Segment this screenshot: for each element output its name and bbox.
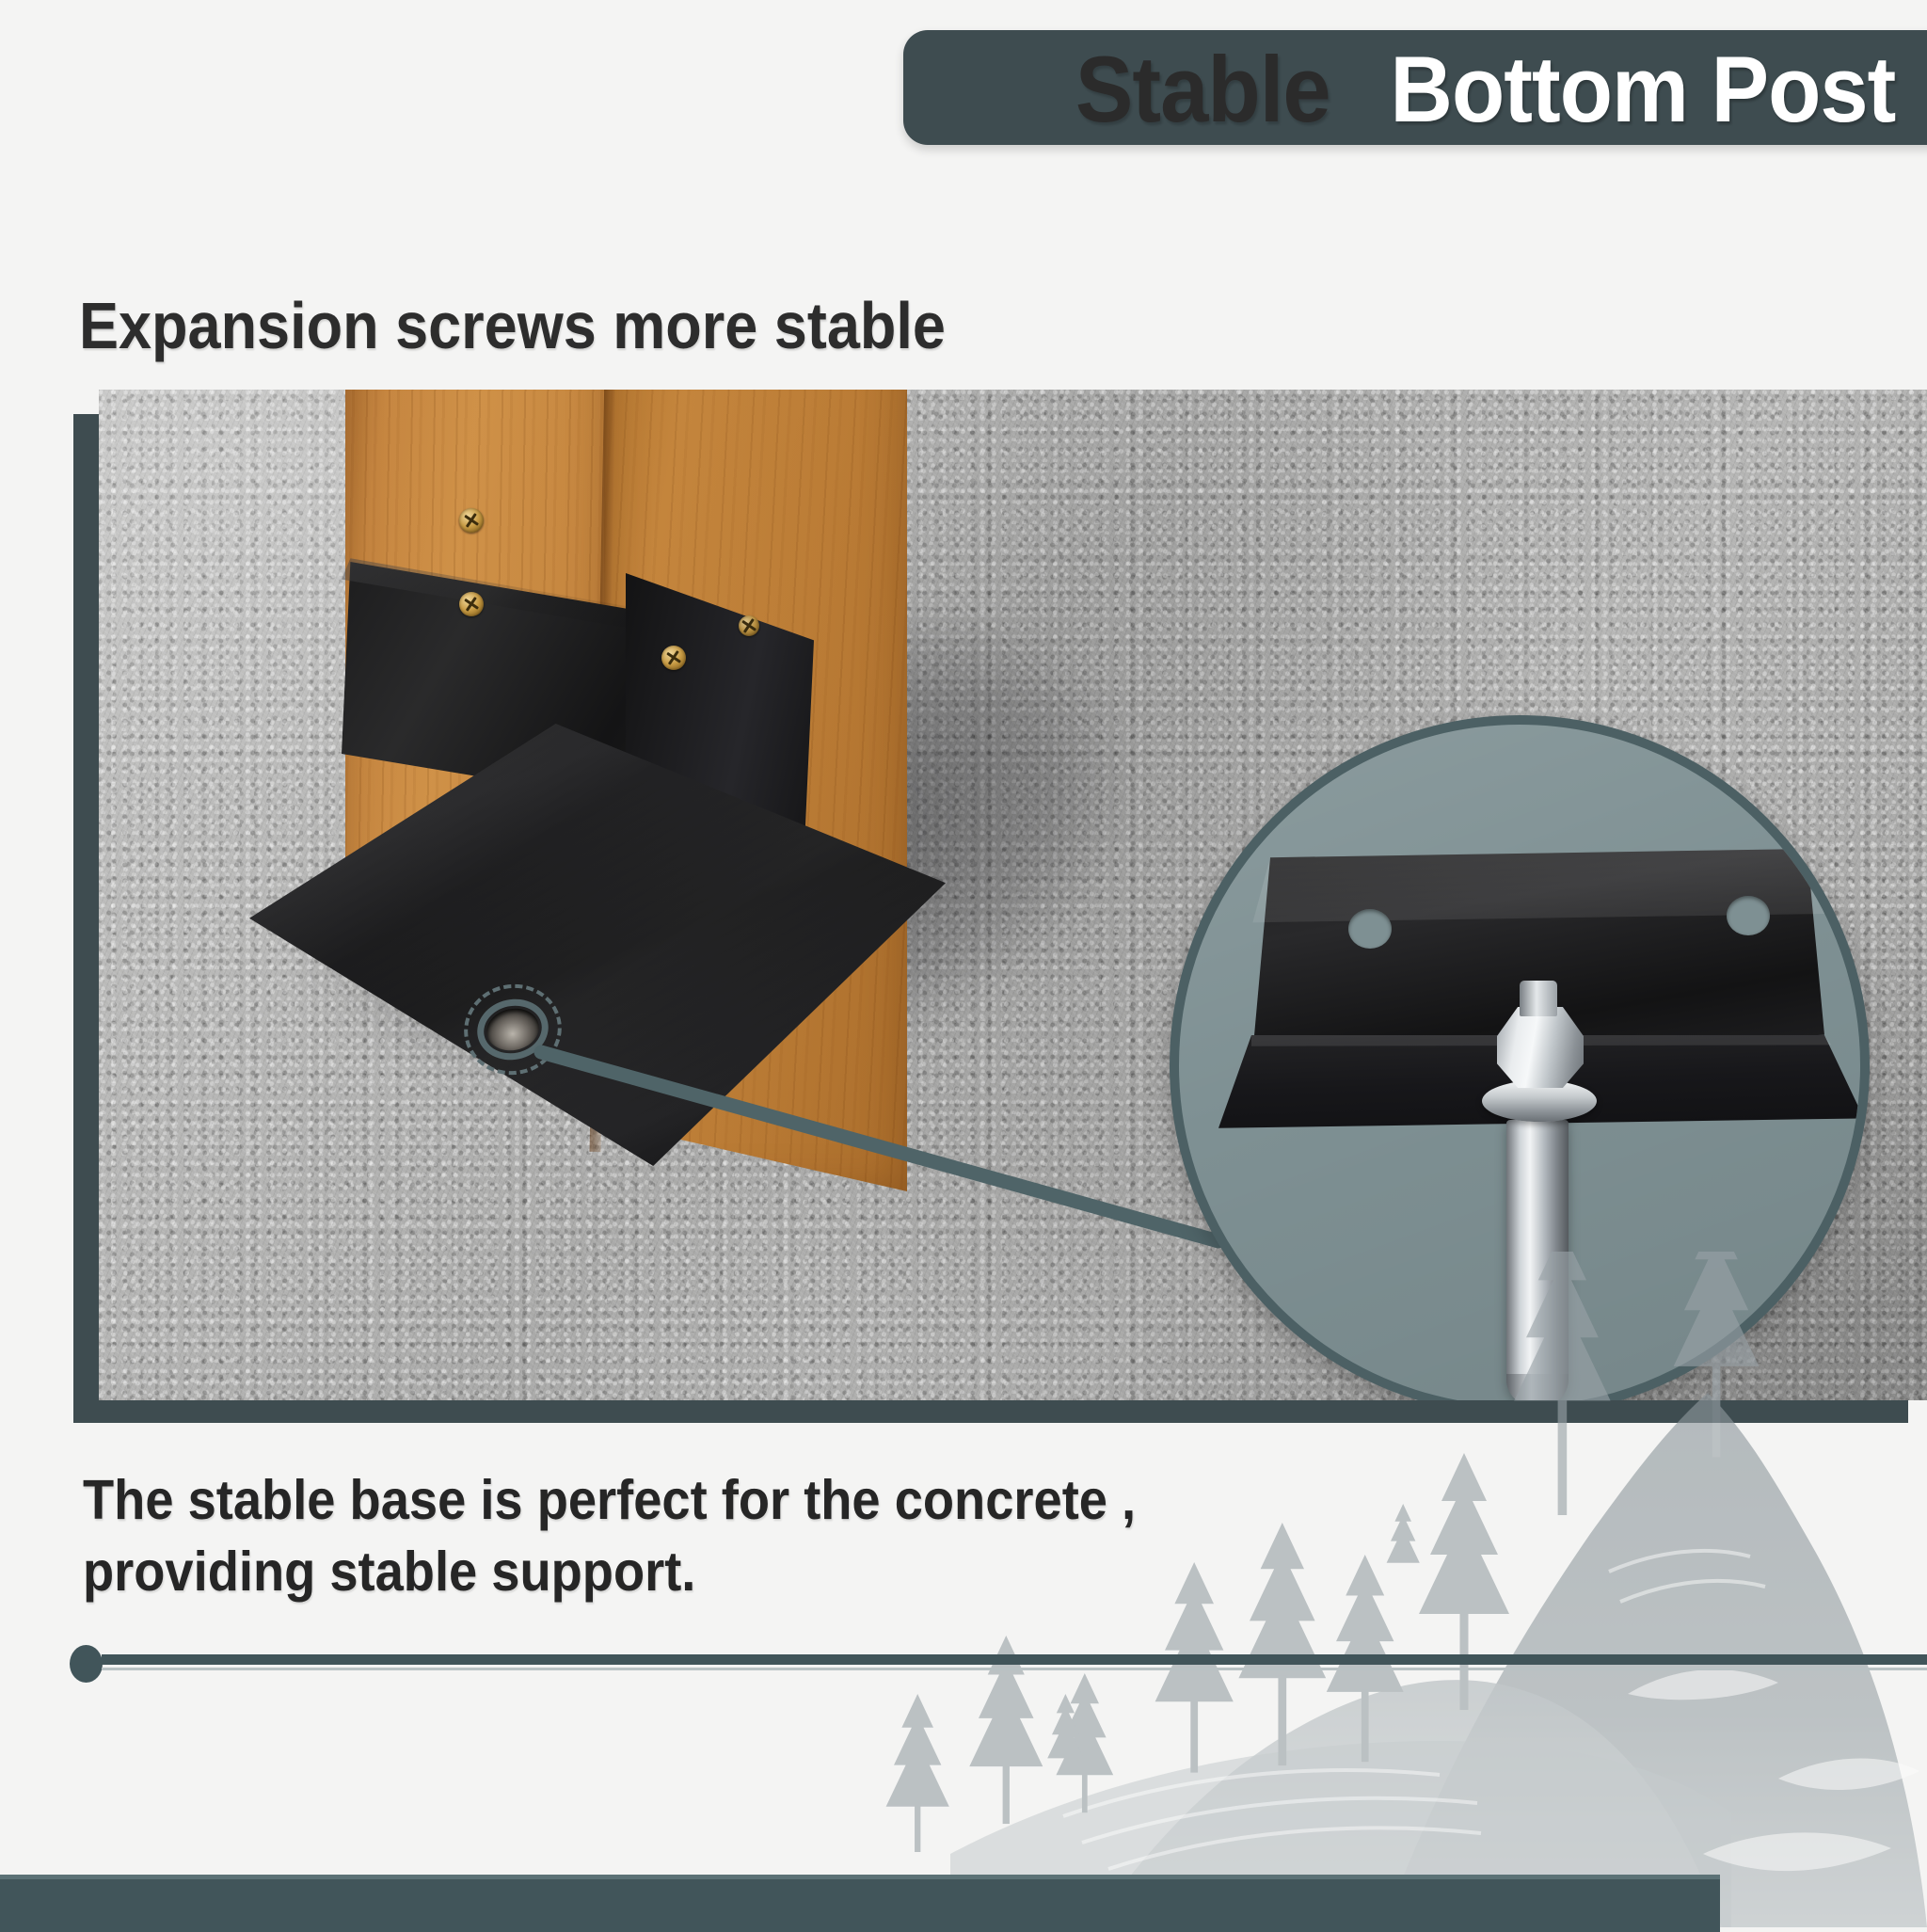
footer-bar — [0, 1875, 1720, 1932]
header: Stable Bottom Post — [0, 0, 1927, 179]
title-highlight-right: Bottom Post — [1390, 33, 1919, 146]
caption-divider-line — [102, 1654, 1927, 1665]
title-highlight-left: Stable — [1075, 33, 1349, 146]
caption-line-1: The stable base is perfect for the concr… — [83, 1464, 1251, 1536]
brass-screw-icon — [459, 508, 484, 533]
section-heading: Expansion screws more stable — [79, 286, 946, 365]
brass-screw-icon — [739, 615, 759, 636]
detail-mounting-hole — [1727, 896, 1770, 935]
caption-bullet-dot — [70, 1645, 103, 1683]
detail-mounting-hole — [1348, 909, 1392, 949]
magnifier-detail-circle — [1170, 715, 1870, 1400]
expansion-bolt-tip — [1506, 1374, 1569, 1400]
bolt-stud — [1520, 981, 1557, 1016]
caption-block: The stable base is perfect for the concr… — [83, 1464, 1251, 1607]
hex-nut-icon — [1497, 1007, 1584, 1088]
caption-line-2: providing stable support. — [83, 1536, 1251, 1607]
brass-screw-icon — [459, 592, 484, 616]
expansion-bolt-shaft — [1506, 1120, 1569, 1400]
brass-screw-icon — [661, 646, 686, 670]
caption-divider-line-secondary — [102, 1668, 1927, 1670]
product-photo — [99, 390, 1927, 1400]
page-title: Stable Bottom Post — [0, 28, 1919, 151]
